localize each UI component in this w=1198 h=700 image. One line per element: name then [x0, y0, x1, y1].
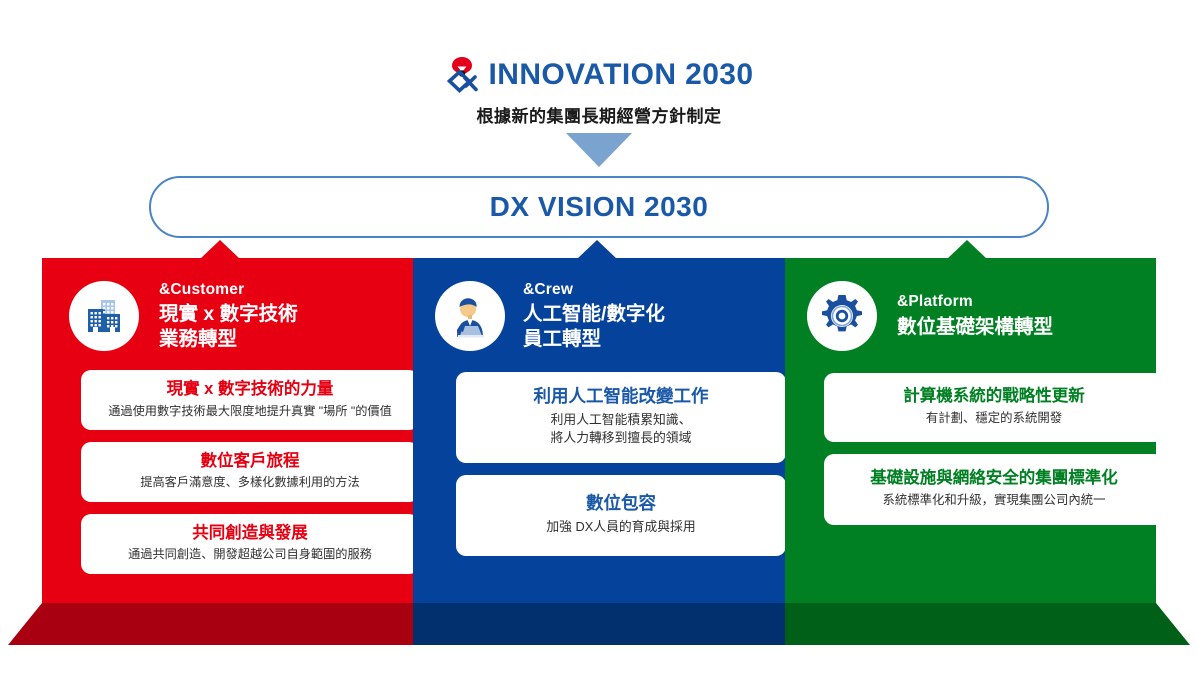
- card-desc: 加強 DX人員的育成與採用: [466, 518, 776, 536]
- pillar-column-customer: &Customer 現實 x 數字技術 業務轉型 現實 x 數字技術的力量 通過…: [42, 258, 413, 603]
- card-desc-line2: 將人力轉移到擅長的領域: [466, 429, 776, 447]
- pillar-column-platform: &Platform 數位基礎架構轉型 計算機系統的戰略性更新 有計劃、穩定的系統…: [785, 258, 1156, 603]
- card[interactable]: 利用人工智能改變工作 利用人工智能積累知識、 將人力轉移到擅長的領域: [456, 372, 786, 463]
- card-title: 現實 x 數字技術的力量: [91, 379, 409, 400]
- card[interactable]: 計算機系統的戰略性更新 有計劃、穩定的系統開發: [824, 373, 1164, 442]
- pillar-arrow-customer: [200, 240, 240, 259]
- vision-pill: DX VISION 2030: [149, 176, 1049, 238]
- column-heading-line1: 現實 x 數字技術: [159, 302, 298, 327]
- card-title: 基礎設施與網絡安全的集團標準化: [834, 468, 1154, 489]
- column-header-text-platform: &Platform 數位基礎架構轉型: [897, 293, 1053, 340]
- ampersand-logo-icon: [445, 56, 479, 94]
- pillar-base: [0, 603, 1198, 645]
- down-arrow-icon: [566, 133, 632, 167]
- card-list-customer: 現實 x 數字技術的力量 通過使用數字技術最大限度地提升真實 "場所 "的價值 …: [81, 370, 413, 574]
- page-title: INNOVATION 2030: [489, 60, 754, 90]
- card-desc: 提高客戶滿意度、多樣化數據利用的方法: [91, 474, 409, 491]
- column-eyebrow: &Platform: [897, 293, 1053, 311]
- column-header-text-customer: &Customer 現實 x 數字技術 業務轉型: [159, 281, 298, 352]
- column-heading-line1: 數位基礎架構轉型: [897, 315, 1053, 340]
- card[interactable]: 數位包容 加強 DX人員的育成與採用: [456, 475, 786, 556]
- pillar-base-crew: [413, 603, 785, 645]
- card-list-crew: 利用人工智能改變工作 利用人工智能積累知識、 將人力轉移到擅長的領域 數位包容 …: [456, 372, 785, 556]
- card-desc: 通過使用數字技術最大限度地提升真實 "場所 "的價值: [91, 403, 409, 420]
- card-title: 數位客戶旅程: [91, 451, 409, 472]
- card-desc: 通過共同創造、開發超越公司自身範圍的服務: [91, 546, 409, 563]
- card-title: 數位包容: [466, 493, 776, 515]
- person-laptop-icon: [435, 281, 505, 351]
- column-heading-line2: 員工轉型: [523, 327, 665, 352]
- header-block: INNOVATION 2030 根據新的集團長期經營方針制定: [0, 56, 1198, 127]
- infographic-canvas: INNOVATION 2030 根據新的集團長期經營方針制定 DX VISION…: [0, 0, 1198, 700]
- column-eyebrow: &Customer: [159, 281, 298, 299]
- column-header-text-crew: &Crew 人工智能/數字化 員工轉型: [523, 281, 665, 352]
- card-desc: 系統標準化和升級，實現集團公司內統一: [834, 492, 1154, 510]
- gear-icon: [807, 281, 877, 351]
- column-header-crew: &Crew 人工智能/數字化 員工轉型: [435, 281, 785, 352]
- column-eyebrow: &Crew: [523, 281, 665, 299]
- column-heading: 人工智能/數字化 員工轉型: [523, 302, 665, 352]
- building-icon: [69, 281, 139, 351]
- card-list-platform: 計算機系統的戰略性更新 有計劃、穩定的系統開發 基礎設施與網絡安全的集團標準化 …: [824, 373, 1156, 525]
- card-title: 共同創造與發展: [91, 523, 409, 544]
- pillar-base-platform: [785, 603, 1190, 645]
- card-title: 計算機系統的戰略性更新: [834, 386, 1154, 407]
- pillar-base-customer: [8, 603, 413, 645]
- column-header-platform: &Platform 數位基礎架構轉型: [807, 281, 1156, 351]
- pillar-arrow-crew: [577, 240, 617, 259]
- card-desc: 利用人工智能積累知識、 將人力轉移到擅長的領域: [466, 411, 776, 447]
- card-title: 利用人工智能改變工作: [466, 386, 776, 408]
- card[interactable]: 數位客戶旅程 提高客戶滿意度、多樣化數據利用的方法: [81, 442, 419, 502]
- card[interactable]: 現實 x 數字技術的力量 通過使用數字技術最大限度地提升真實 "場所 "的價值: [81, 370, 419, 430]
- column-heading: 數位基礎架構轉型: [897, 315, 1053, 340]
- pillar-arrow-platform: [947, 240, 987, 259]
- title-row: INNOVATION 2030: [0, 56, 1198, 94]
- column-heading-line1: 人工智能/數字化: [523, 302, 665, 327]
- column-header-customer: &Customer 現實 x 數字技術 業務轉型: [69, 281, 413, 352]
- column-heading-line2: 業務轉型: [159, 327, 298, 352]
- pillar-column-crew: &Crew 人工智能/數字化 員工轉型 利用人工智能改變工作 利用人工智能積累知…: [413, 258, 785, 603]
- card-desc: 有計劃、穩定的系統開發: [834, 410, 1154, 428]
- page-subtitle: 根據新的集團長期經營方針制定: [0, 102, 1198, 127]
- column-heading: 現實 x 數字技術 業務轉型: [159, 302, 298, 352]
- vision-label: DX VISION 2030: [490, 191, 709, 223]
- card-desc-line1: 利用人工智能積累知識、: [466, 411, 776, 429]
- card[interactable]: 基礎設施與網絡安全的集團標準化 系統標準化和升級，實現集團公司內統一: [824, 454, 1164, 525]
- card[interactable]: 共同創造與發展 通過共同創造、開發超越公司自身範圍的服務: [81, 514, 419, 574]
